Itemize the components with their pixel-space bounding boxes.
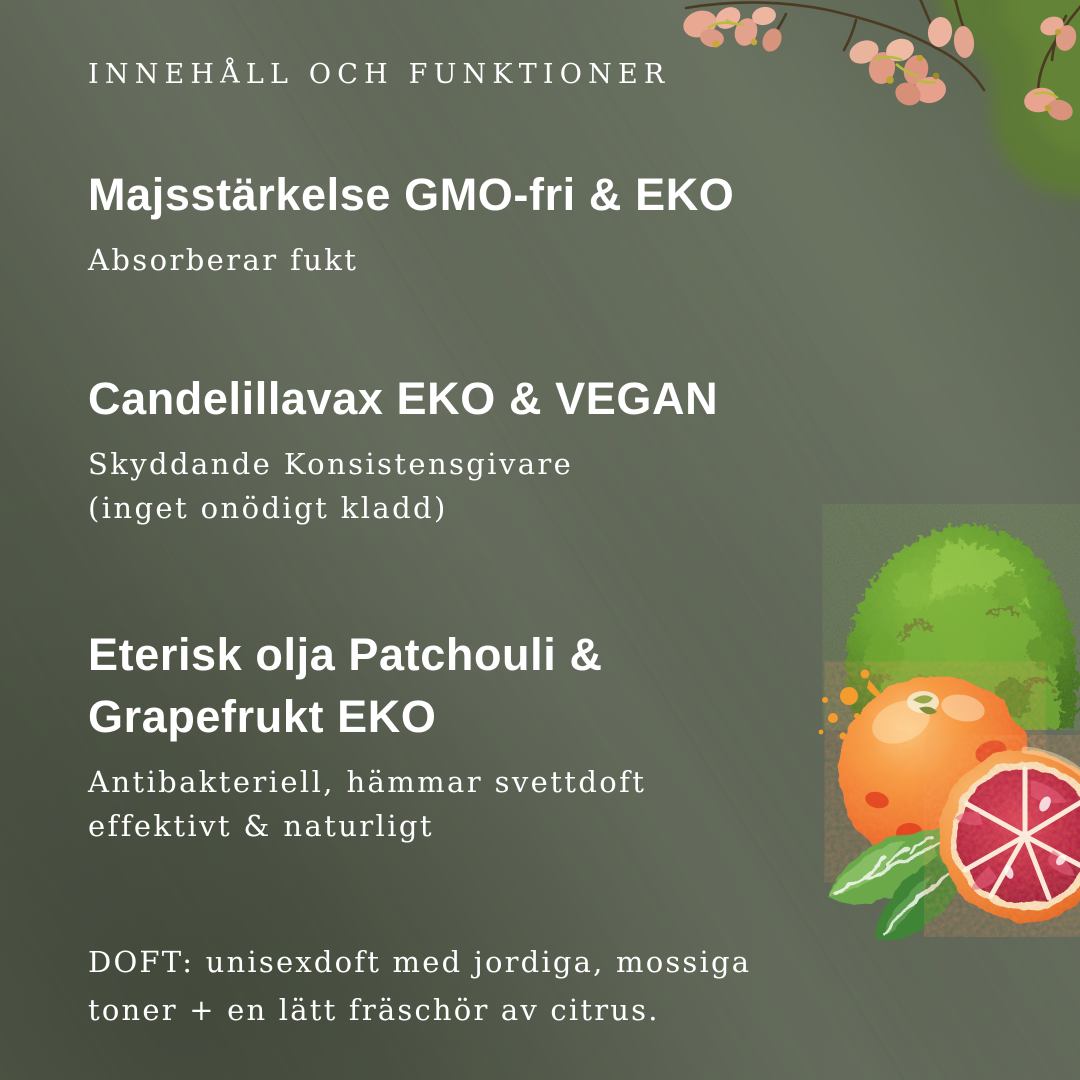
promo-card: INNEHÅLL OCH FUNKTIONER Majsstärkelse GM…	[0, 0, 1080, 1080]
feature-block-3: Eterisk olja Patchouli & Grapefrukt EKO …	[88, 624, 968, 848]
scent-note-block: DOFT: unisexdoft med jordiga, mossiga to…	[88, 938, 968, 1034]
feature-block-2: Candelillavax EKO & VEGAN Skyddande Kons…	[88, 368, 968, 530]
feature-block-1: Majsstärkelse GMO-fri & EKO Absorberar f…	[88, 164, 968, 282]
feature-heading: Eterisk olja Patchouli & Grapefrukt EKO	[88, 624, 968, 748]
feature-description: Absorberar fukt	[88, 238, 968, 282]
feature-heading: Candelillavax EKO & VEGAN	[88, 368, 968, 430]
feature-heading: Majsstärkelse GMO-fri & EKO	[88, 164, 968, 226]
eyebrow-label: INNEHÅLL OCH FUNKTIONER	[88, 59, 670, 90]
content-column: INNEHÅLL OCH FUNKTIONER Majsstärkelse GM…	[88, 0, 988, 1080]
feature-description: Antibakteriell, hämmar svettdoft effekti…	[88, 760, 968, 848]
feature-description: Skyddande Konsistensgivare (inget onödig…	[88, 442, 968, 530]
scent-note-text: DOFT: unisexdoft med jordiga, mossiga to…	[88, 938, 968, 1034]
